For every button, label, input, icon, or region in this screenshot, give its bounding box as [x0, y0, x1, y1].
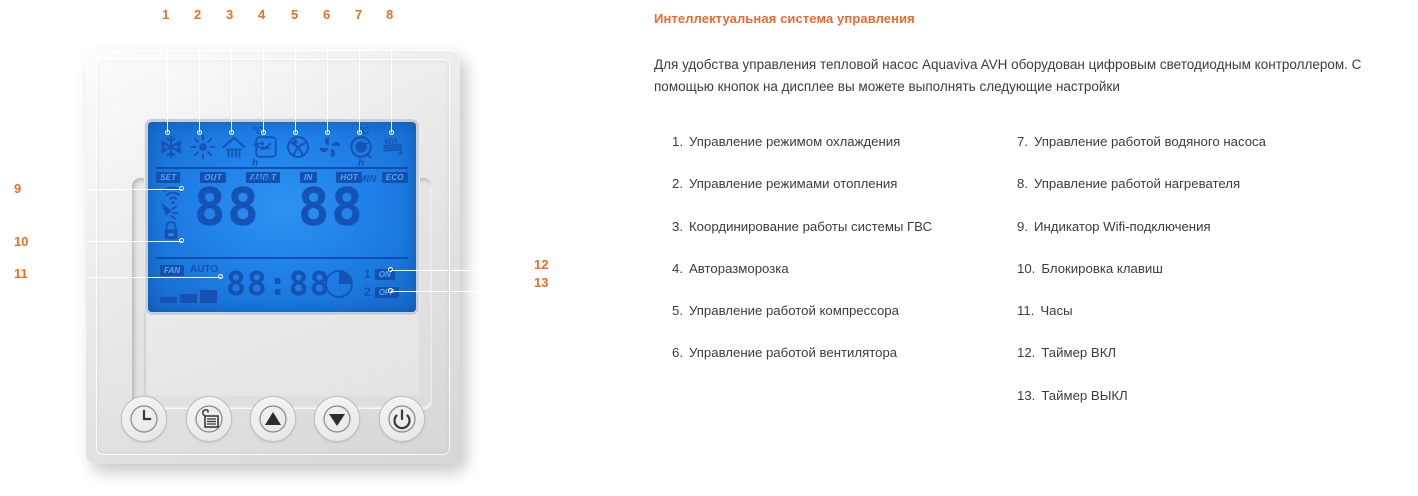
lock-icon [160, 220, 194, 242]
callout-number-8: 8 [386, 8, 393, 21]
page-title: Интеллектуальная система управления [654, 11, 915, 26]
leader-line-5 [295, 26, 296, 133]
list-item-label: Управление работой вентилятора [689, 344, 1017, 386]
feature-list-right: 7. Управление работой водяного насоса 8.… [1017, 133, 1417, 429]
leader-line-2 [199, 26, 200, 133]
right-unit-column: °C °F h MIN [358, 124, 384, 188]
unit-min-left: MIN [252, 172, 278, 188]
timer-row-1: 1 ON [364, 265, 410, 283]
intro-paragraph: Для удобства управления тепловой насос A… [654, 54, 1394, 98]
mode-button[interactable] [186, 396, 232, 442]
list-item-number: 12. [1017, 344, 1035, 386]
list-item-number: 13. [1017, 387, 1035, 429]
leader-dot-13 [388, 288, 393, 293]
list-item: 4. Авторазморозка [672, 260, 1017, 302]
left-temperature-display: 88 [194, 182, 261, 234]
list-item-number: 2. [672, 175, 683, 217]
clock-icon [129, 404, 159, 434]
leader-dot-1 [165, 130, 170, 135]
leader-line-1 [167, 26, 168, 133]
leader-dot-3 [229, 130, 234, 135]
leader-line-10 [86, 241, 182, 242]
list-item-label: Управление режимами отопления [689, 175, 1017, 217]
leader-line-7 [359, 26, 360, 133]
leader-dot-6 [325, 130, 330, 135]
clock-button[interactable] [121, 396, 167, 442]
up-button[interactable] [250, 396, 296, 442]
list-item: 6. Управление работой вентилятора [672, 344, 1017, 386]
feature-list-left: 1. Управление режимом охлаждения 2. Упра… [672, 133, 1017, 387]
leader-dot-11 [218, 274, 223, 279]
list-item-label: Таймер ВКЛ [1041, 344, 1417, 386]
leader-dot-5 [293, 130, 298, 135]
leader-dot-10 [179, 238, 184, 243]
leader-dot-4 [261, 130, 266, 135]
list-item-label: Авторазморозка [689, 260, 1017, 302]
compressor-icon [285, 134, 311, 160]
down-button[interactable] [314, 396, 360, 442]
lcd-display: SET OUT AMB.T IN HOT ECO [148, 122, 416, 312]
timer-1-index: 1 [364, 268, 371, 280]
callout-number-3: 3 [226, 8, 233, 21]
list-item: 13. Таймер ВЫКЛ [1017, 387, 1417, 429]
fan-icon [317, 134, 343, 160]
callout-number-1: 1 [162, 8, 169, 21]
list-item-label: Таймер ВЫКЛ [1041, 387, 1417, 429]
list-item-number: 3. [672, 218, 683, 260]
auto-tag: AUTO [190, 264, 218, 275]
list-item: 10. Блокировка клавиш [1017, 260, 1417, 302]
left-digits: 88 [194, 178, 261, 238]
list-item: 11. Часы [1017, 302, 1417, 344]
unit-fahrenheit-right: °F [358, 140, 384, 156]
leader-dot-8 [389, 130, 394, 135]
tag-eco: ECO [382, 172, 408, 183]
list-item: 2. Управление режимами отопления [672, 175, 1017, 217]
list-item-number: 5. [672, 302, 683, 344]
controller-illustration: 1 2 3 4 5 6 7 8 9 10 11 12 13 [0, 0, 640, 496]
power-button[interactable] [379, 396, 425, 442]
sun-icon [190, 134, 216, 160]
list-item: 5. Управление работой компрессора [672, 302, 1017, 344]
callout-number-2: 2 [194, 8, 201, 21]
button-row [112, 388, 434, 450]
signal-icon [160, 202, 194, 222]
triangle-down-icon [322, 404, 352, 434]
house-heating-icon [221, 134, 247, 160]
leader-dot-7 [357, 130, 362, 135]
list-item-number: 1. [672, 133, 683, 175]
list-item-label: Координирование работы системы ГВС [689, 218, 1017, 260]
list-item-label: Индикатор Wifi-подключения [1034, 218, 1417, 260]
triangle-up-icon [258, 404, 288, 434]
callout-number-9: 9 [14, 182, 21, 195]
timer-2-state: OFF [375, 287, 399, 298]
callout-number-13: 13 [534, 276, 548, 289]
description-panel: Интеллектуальная система управления Для … [654, 0, 1418, 496]
list-item: 12. Таймер ВКЛ [1017, 344, 1417, 386]
leader-line-13 [391, 291, 529, 292]
power-icon [387, 404, 417, 434]
list-item-number: 11. [1017, 302, 1034, 344]
list-item-label: Управление работой водяного насоса [1034, 133, 1417, 175]
leader-line-3 [231, 26, 232, 133]
list-item-number: 10. [1017, 260, 1035, 302]
fan-speed-bars [160, 287, 222, 303]
unit-hour-left: h [252, 156, 278, 172]
list-item-number: 6. [672, 344, 683, 386]
list-item: 7. Управление работой водяного насоса [1017, 133, 1417, 175]
leader-line-8 [391, 26, 392, 133]
timer-2-index: 2 [364, 286, 371, 298]
snowflake-icon [158, 134, 184, 160]
list-item-label: Блокировка клавиш [1041, 260, 1417, 302]
unit-hour-right: h [358, 156, 384, 172]
callout-number-10: 10 [14, 235, 28, 248]
callout-number-4: 4 [258, 8, 265, 21]
unit-fahrenheit-left: °F [252, 140, 278, 156]
unit-min-right: MIN [358, 172, 384, 188]
lcd-status-icons [160, 184, 194, 254]
list-item-number: 7. [1017, 133, 1028, 175]
list-item-label: Часы [1040, 302, 1417, 344]
right-temperature-display: 88 [298, 182, 365, 234]
fan-tag: FAN [160, 265, 184, 276]
leader-line-12 [391, 270, 529, 271]
leader-dot-9 [179, 186, 184, 191]
tag-set: SET [156, 172, 180, 183]
list-item-number: 9. [1017, 218, 1028, 260]
clock-digits: 88:88 [226, 267, 330, 300]
leader-line-6 [327, 26, 328, 133]
list-item-number: 4. [672, 260, 683, 302]
list-item: 8. Управление работой нагревателя [1017, 175, 1417, 217]
list-item-label: Управление работой нагревателя [1034, 175, 1417, 217]
list-item: 3. Координирование работы системы ГВС [672, 218, 1017, 260]
leader-line-4 [263, 26, 264, 133]
callout-number-6: 6 [323, 8, 330, 21]
leader-line-9 [86, 189, 182, 190]
list-item-label: Управление режимом охлаждения [689, 133, 1017, 175]
right-digits: 88 [298, 178, 365, 238]
leader-dot-12 [388, 267, 393, 272]
timer-pie-icon [324, 269, 354, 299]
list-item: 9. Индикатор Wifi-подключения [1017, 218, 1417, 260]
lcd-bottom-strip: FAN AUTO 88:88 1 ON 2 OFF [148, 259, 416, 312]
list-item-number: 8. [1017, 175, 1028, 217]
timer-row-2: 2 OFF [364, 283, 410, 301]
callout-number-5: 5 [291, 8, 298, 21]
list-item: 1. Управление режимом охлаждения [672, 133, 1017, 175]
list-item-label: Управление работой компрессора [689, 302, 1017, 344]
callout-number-7: 7 [355, 8, 362, 21]
callout-number-11: 11 [14, 267, 28, 280]
leader-dot-2 [197, 130, 202, 135]
leader-line-11 [86, 277, 221, 278]
menu-mode-icon [194, 404, 224, 434]
callout-number-12: 12 [534, 258, 548, 271]
